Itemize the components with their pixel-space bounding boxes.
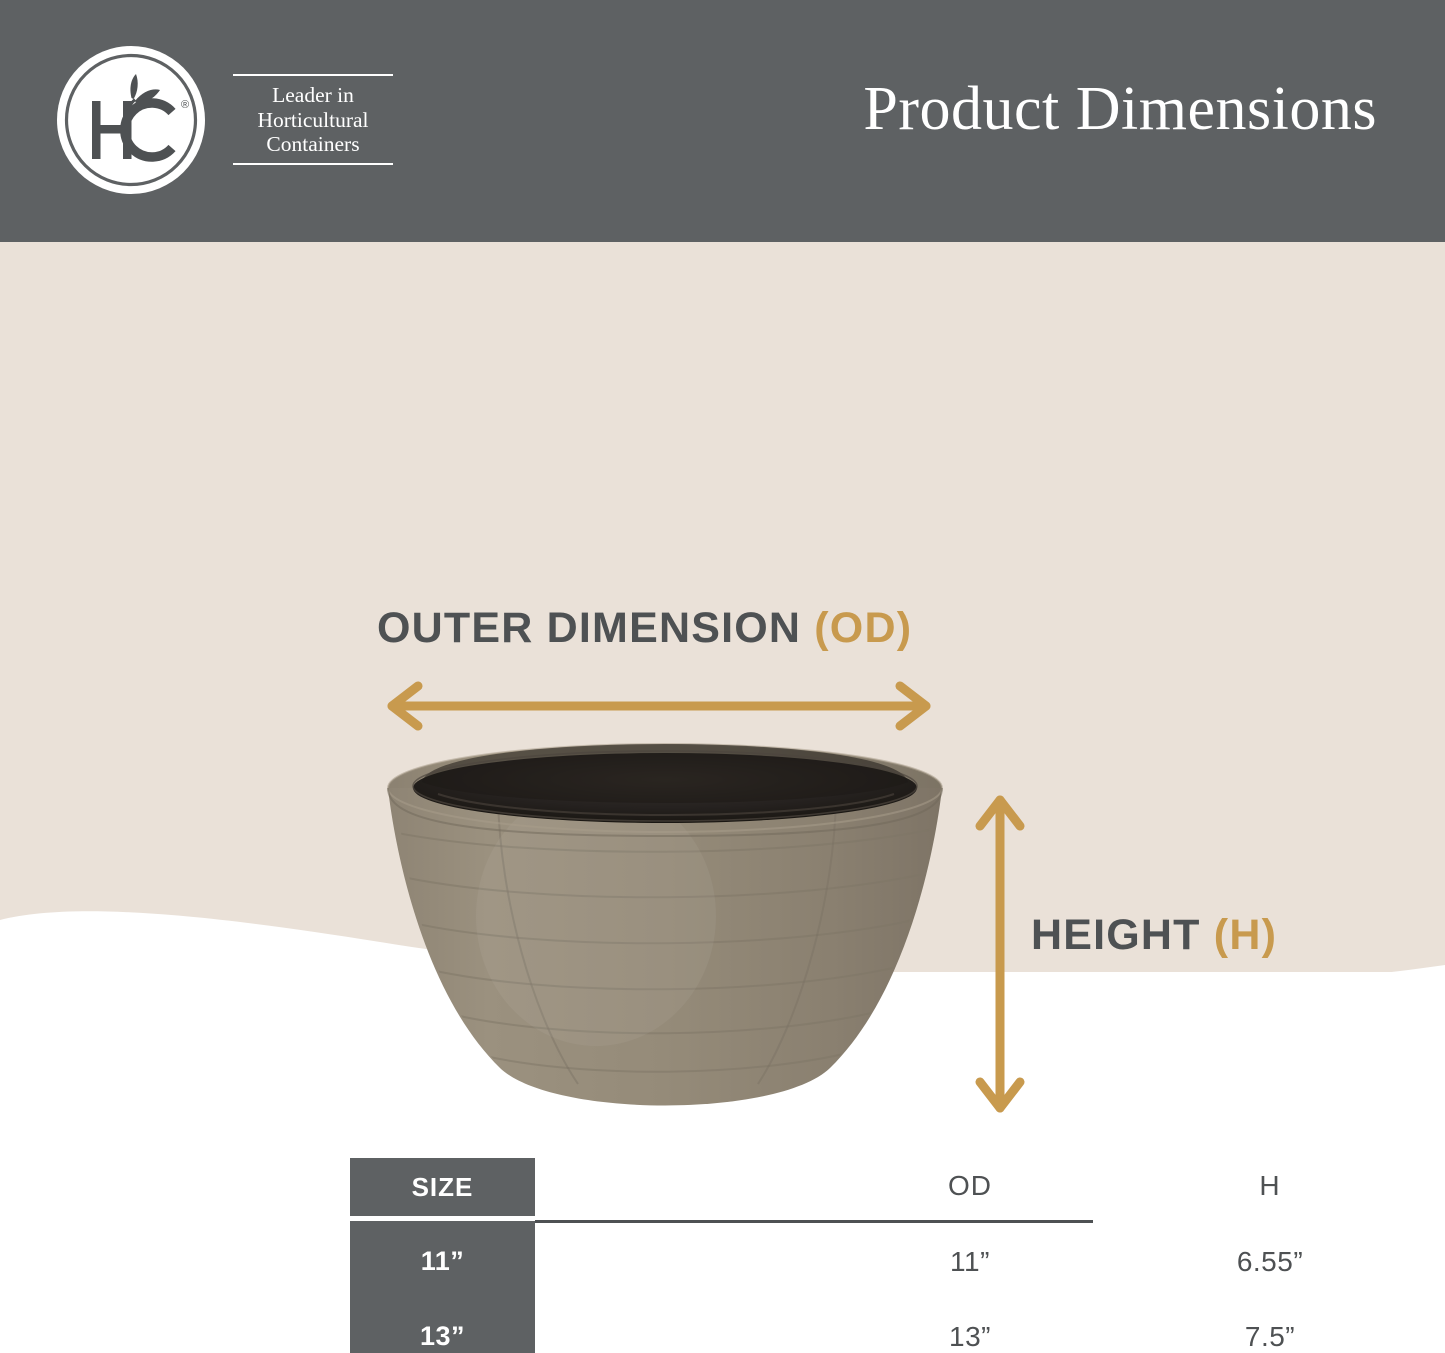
table-header-h: H <box>1180 1170 1360 1202</box>
brand-tagline: Leader in Horticultural Containers <box>233 74 393 166</box>
table-row-h-value: 7.5” <box>1180 1321 1360 1353</box>
table-row-h-value: 6.55” <box>1180 1246 1360 1278</box>
od-label-text: OUTER DIMENSION <box>377 604 814 652</box>
od-label-abbrev: (OD) <box>814 604 912 652</box>
planter-pot-image <box>382 736 948 1118</box>
diagram-panel: OUTER DIMENSION (OD) HEIGHT (H) <box>0 242 1445 972</box>
brand-logo: ® Leader in Horticultural Containers <box>55 42 395 197</box>
table-header-size: SIZE <box>350 1158 535 1216</box>
od-label: OUTER DIMENSION (OD) <box>377 604 912 653</box>
double-headed-horizontal-arrow-icon <box>380 680 938 732</box>
double-headed-vertical-arrow-icon <box>972 788 1028 1120</box>
tagline-line-2: Horticultural <box>233 108 393 133</box>
table-header-divider <box>535 1220 1093 1223</box>
table-row-size-value: 11” <box>350 1246 535 1277</box>
dimensions-table: SIZE OD H 11” 11” 6.55” 13” 13” 7.5” <box>350 1158 1095 1353</box>
tagline-line-1: Leader in <box>233 83 393 108</box>
table-header-od: OD <box>880 1170 1060 1202</box>
svg-text:®: ® <box>181 99 189 111</box>
height-label-text: HEIGHT <box>1031 911 1214 959</box>
hc-logo-icon: ® <box>55 44 207 196</box>
table-row-od-value: 13” <box>880 1321 1060 1353</box>
tagline-line-3: Containers <box>233 132 393 157</box>
table-row-size-value: 13” <box>350 1321 535 1352</box>
table-row-od-value: 11” <box>880 1246 1060 1278</box>
header-bar: ® Leader in Horticultural Containers Pro… <box>0 0 1445 242</box>
height-label: HEIGHT (H) <box>1031 911 1277 960</box>
height-label-abbrev: (H) <box>1214 911 1277 959</box>
page-title: Product Dimensions <box>863 78 1377 140</box>
